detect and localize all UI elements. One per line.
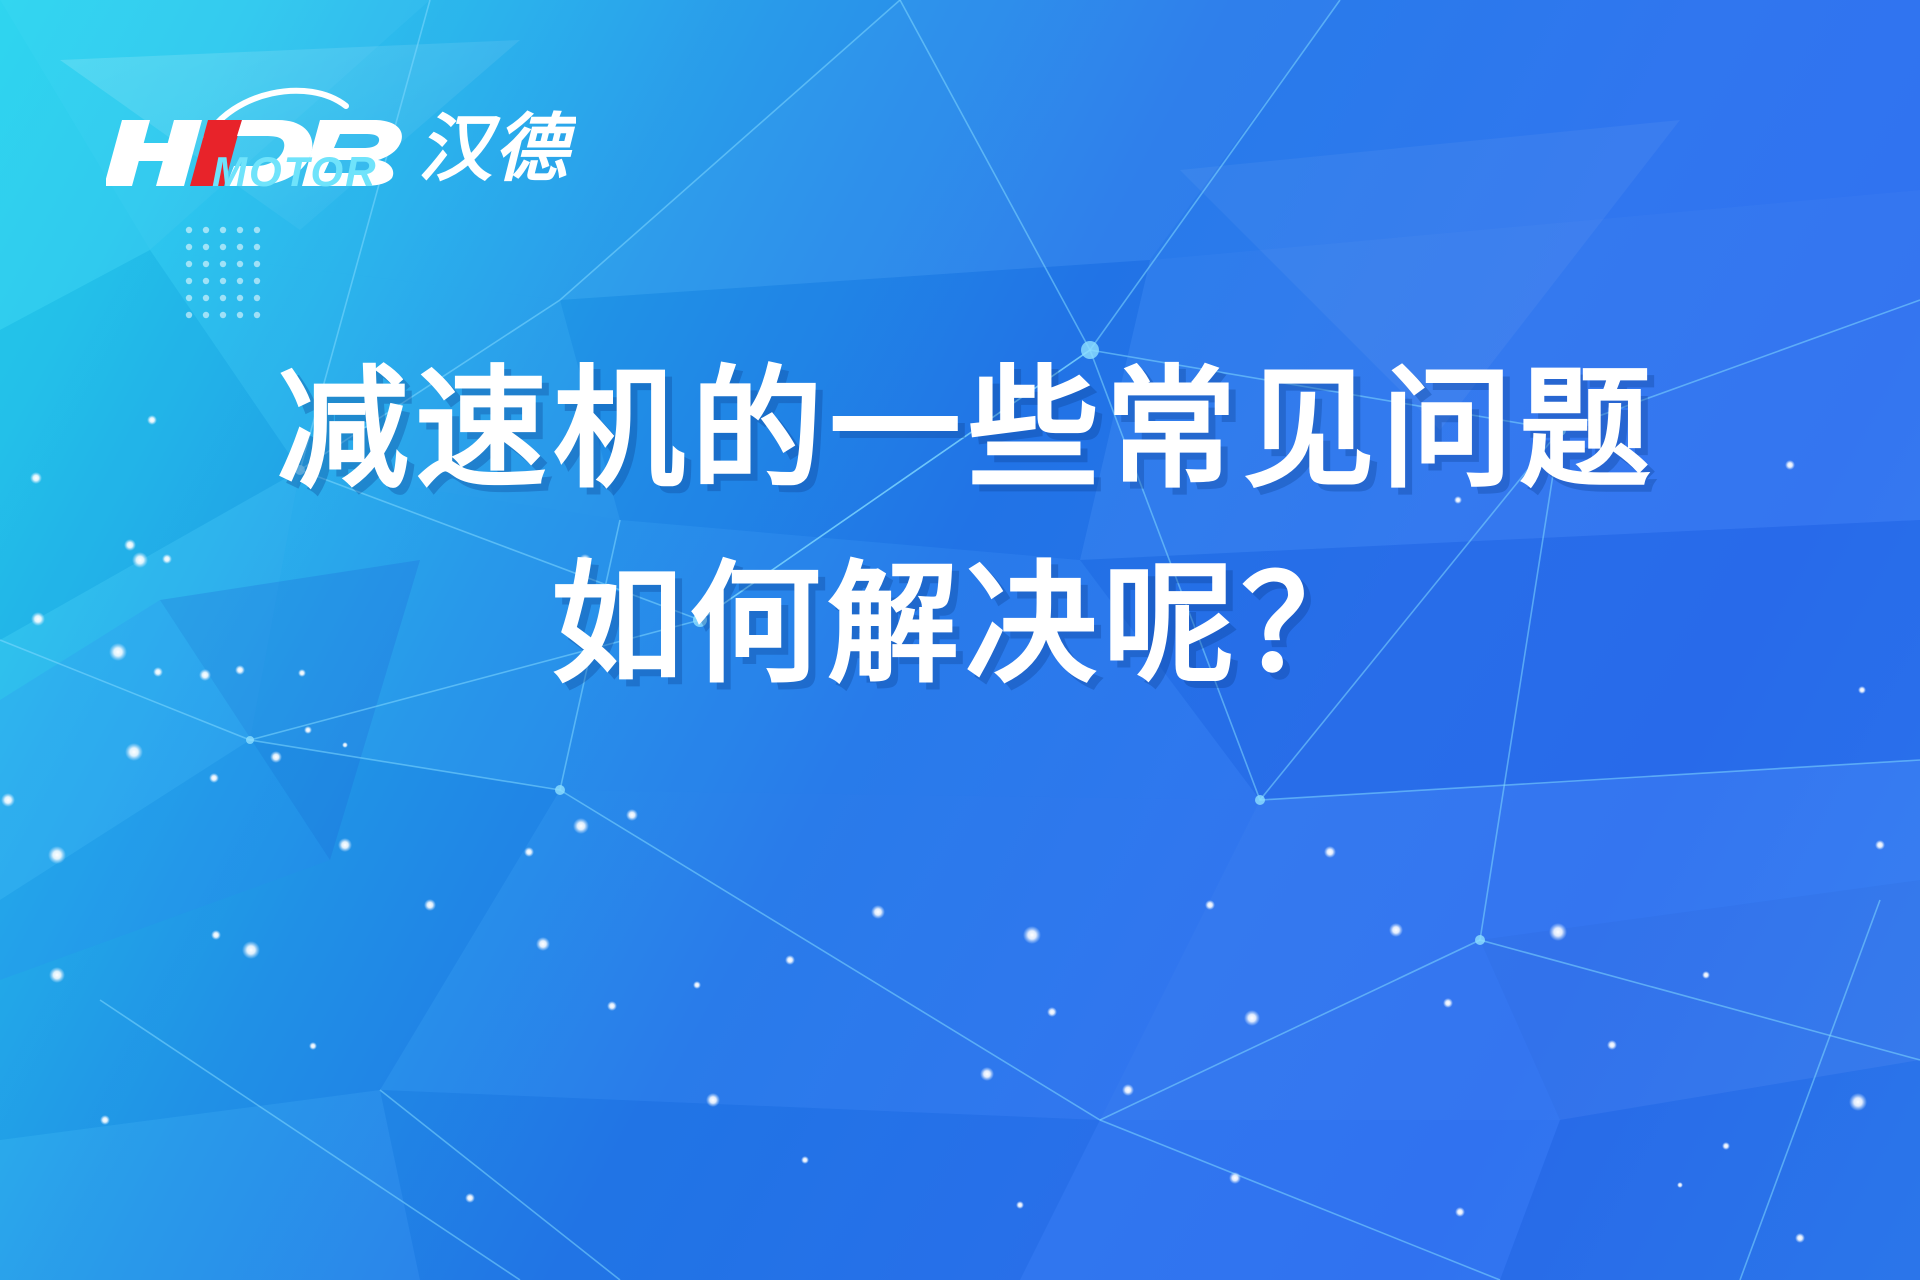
- logo-sub-text: MOTOR: [212, 148, 378, 192]
- logo-wordmark: 汉德保: [418, 107, 576, 190]
- headline-line-1: 减速机的一些常见问题: [0, 332, 1920, 527]
- headline-line-2: 如何解决呢？: [0, 527, 1920, 722]
- brand-logo[interactable]: MOTOR 汉德保: [106, 74, 576, 192]
- headline-block: 减速机的一些常见问题 如何解决呢？: [0, 332, 1920, 723]
- promo-banner: MOTOR 汉德保 减速机的一些常见问题 如何解决呢？: [0, 0, 1920, 1280]
- logo-letter-h: [106, 120, 202, 186]
